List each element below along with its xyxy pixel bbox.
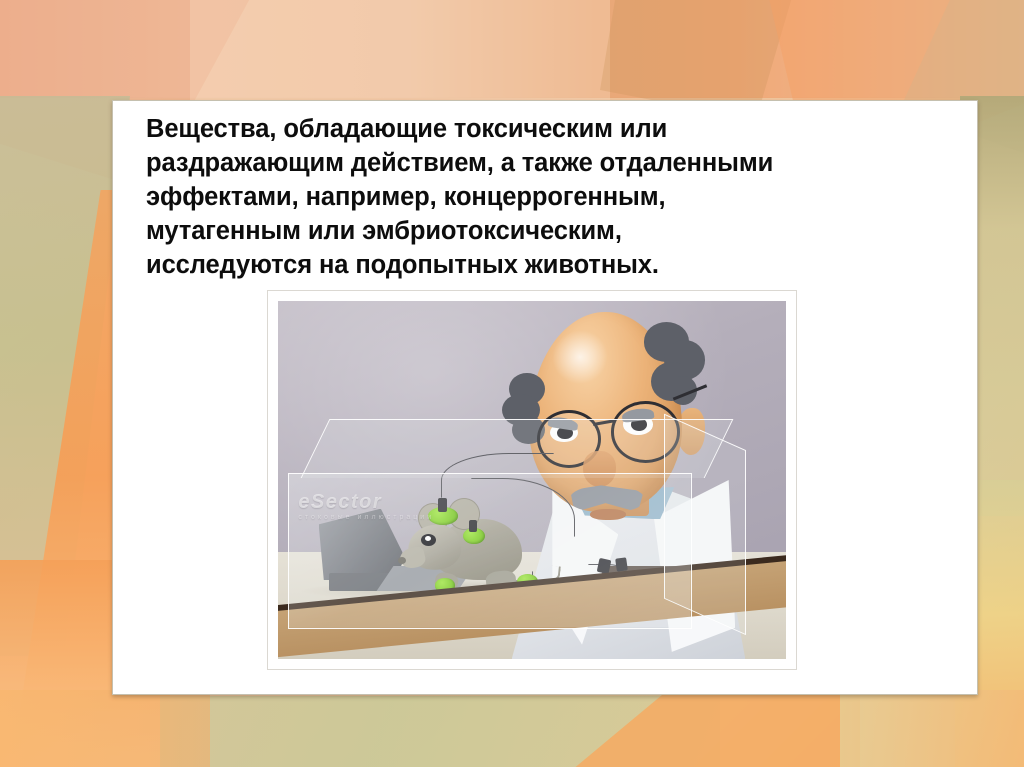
watermark: eSector стоковые иллюстрации (298, 491, 434, 521)
laboratory-illustration: eSector стоковые иллюстрации (278, 301, 786, 659)
glass-terrarium (288, 419, 735, 627)
slide-content-card: Вещества, обладающие токсическим или раз… (112, 100, 978, 695)
heading-line-4: мутагенным или эмбриотоксическим, (146, 214, 956, 248)
illustration-frame: eSector стоковые иллюстрации (268, 291, 796, 669)
bg-bottom-right-sliver (840, 690, 1024, 767)
heading-line-1: Вещества, обладающие токсическим или (146, 112, 956, 146)
heading-line-2: раздражающим действием, а также отдаленн… (146, 146, 956, 180)
page-title: Вещества, обладающие токсическим или раз… (146, 112, 956, 282)
heading-line-5: исследуются на подопытных животных. (146, 248, 956, 282)
watermark-subtext: стоковые иллюстрации (298, 514, 434, 521)
watermark-text: eSector (298, 491, 382, 513)
bg-bottom-left-orange (0, 690, 210, 767)
heading-line-3: эффектами, например, концеррогенным, (146, 180, 956, 214)
